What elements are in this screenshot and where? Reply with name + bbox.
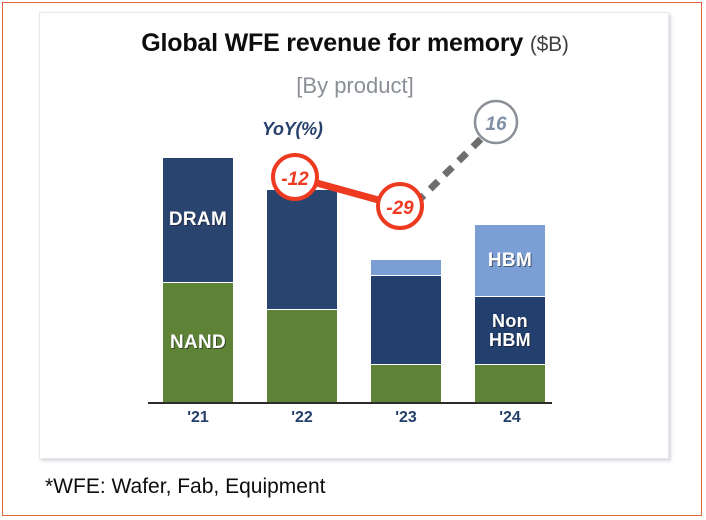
yoy-marker-2024[interactable]: 16	[475, 101, 517, 143]
bar-segment-dram-2021[interactable]: DRAM	[162, 157, 234, 283]
yoy-marker-label-2024: 16	[485, 114, 507, 135]
bar-segment-label-nand: NAND	[170, 333, 226, 353]
yoy-overlay: -12 -29 16	[40, 13, 670, 460]
bar-segment-hbm-2024[interactable]: HBM	[474, 224, 546, 297]
bar-segment-non-hbm-2023[interactable]	[370, 275, 442, 365]
bar-segment-label-hbm: HBM	[488, 251, 532, 271]
x-tick-label-2021: '21	[162, 409, 234, 427]
x-tick-label-2022: '22	[266, 409, 338, 427]
yoy-marker-label-2023: -29	[386, 198, 414, 219]
bar-segment-nand-2023[interactable]	[370, 364, 442, 403]
yoy-caption-label: YoY(%)	[262, 119, 323, 140]
slide-frame: Global WFE revenue for memory ($B) [By p…	[2, 2, 702, 516]
bar-segment-nand-2024[interactable]	[474, 364, 546, 403]
bar-segment-nand-2022[interactable]	[266, 309, 338, 403]
plot-area: DRAM NAND HBM	[40, 13, 670, 460]
bar-segment-hbm-2023[interactable]	[370, 259, 442, 276]
bar-segment-nand-2021[interactable]: NAND	[162, 282, 234, 403]
x-tick-label-2024: '24	[474, 409, 546, 427]
bar-segment-dram-2022[interactable]	[266, 189, 338, 310]
bar-segment-non-hbm-2024[interactable]: Non HBM	[474, 296, 546, 365]
yoy-marker-label-2022: -12	[281, 169, 309, 190]
x-tick-label-2023: '23	[370, 409, 442, 427]
x-axis-line	[148, 402, 552, 404]
chart-card: Global WFE revenue for memory ($B) [By p…	[39, 12, 669, 459]
bar-segment-label-dram: DRAM	[169, 210, 227, 230]
footnote-text: *WFE: Wafer, Fab, Equipment	[45, 475, 326, 499]
yoy-line-dashed	[416, 130, 490, 203]
yoy-marker-2023[interactable]: -29	[378, 184, 422, 228]
bar-segment-label-non-hbm: Non HBM	[489, 312, 531, 350]
